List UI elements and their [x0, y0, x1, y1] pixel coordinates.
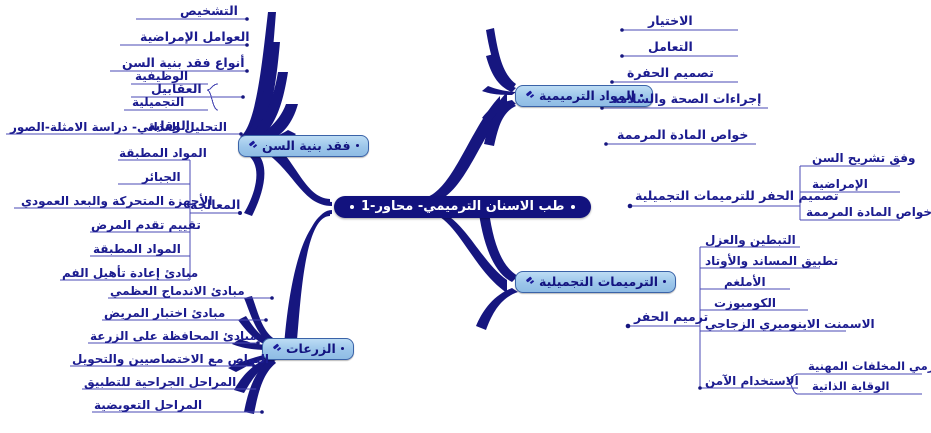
leaf-surgical-stages[interactable]: المراحل الجراحية للتطبيق: [84, 376, 236, 388]
pencil-icon: [525, 277, 534, 286]
leaf-specialist-communication-referral[interactable]: التواص مع الاختصاصيين والتحويل: [72, 353, 269, 365]
branch-node-cosmetic-restorations[interactable]: الترميمات التجميلية: [515, 271, 676, 293]
leaf-sequelae[interactable]: العقابيل: [151, 83, 202, 96]
leaf-diagnosis[interactable]: التشخيص: [180, 5, 238, 18]
leaf-cosmetic-cavity-design[interactable]: تصميم الحفر للترميمات التجميلية: [635, 190, 839, 203]
leaf-oral-rehabilitation-principles[interactable]: مبادئ إعادة تأهيل الفم: [62, 267, 198, 279]
branch-label: الترميمات التجميلية: [539, 274, 658, 289]
branch-label: فقد بنية السن: [262, 138, 351, 153]
leaf-pathogenic-factors[interactable]: العوامل الإمراضية: [140, 31, 250, 44]
leaf-cavity-restoration[interactable]: ترميم الحفر: [634, 311, 708, 324]
leaf-splints[interactable]: الجبائر: [142, 171, 181, 183]
leaf-health-safety-procedures[interactable]: إجراءات الصحة والسلامة: [612, 93, 761, 106]
branch-label: الزرعات: [286, 341, 336, 356]
leaf-cavity-design[interactable]: تصميم الحفرة: [627, 67, 714, 80]
node-connector-dot: [356, 144, 359, 147]
leaf-lining-isolation[interactable]: التبطين والعزل: [705, 234, 796, 246]
pencil-icon: [248, 141, 257, 150]
leaf-amalgam[interactable]: الأملغم: [724, 276, 766, 288]
leaf-patient-selection-principles[interactable]: مبادئ اختبار المريض: [104, 307, 225, 319]
root-bullet-icon-end: [350, 205, 354, 209]
leaf-types-of-tooth-structure-loss[interactable]: أنواع فقد بنية السن: [122, 57, 245, 70]
leaf-selection[interactable]: الاختيار: [648, 15, 693, 28]
leaf-applied-materials-2[interactable]: المواد المطبقة: [93, 243, 181, 255]
root-label: طب الاسنان الترميمي- محاور-1: [361, 199, 564, 214]
leaf-self-protection[interactable]: الوقاية الذاتية: [812, 381, 889, 393]
node-connector-dot: [663, 280, 666, 283]
root-bullet-icon: [571, 205, 575, 209]
pencil-icon: [272, 344, 281, 353]
leaf-composite[interactable]: الكومبوزت: [714, 297, 776, 309]
branch-node-implants[interactable]: الزرعات: [262, 338, 354, 360]
leaf-dietary-analysis[interactable]: التحليل الغذائي- دراسة الامثلة-الصور: [10, 121, 227, 133]
root-node[interactable]: طب الاسنان الترميمي- محاور-1: [334, 196, 591, 218]
leaf-glass-ionomer-cement[interactable]: الاسمنت الاينوميري الزجاجي: [705, 318, 875, 330]
mind-map-canvas: طب الاسنان الترميمي- محاور-1 المواد التر…: [0, 0, 931, 433]
leaf-handling[interactable]: التعامل: [648, 41, 693, 54]
leaf-applied-materials[interactable]: المواد المطبقة: [119, 147, 207, 159]
leaf-safe-use[interactable]: الاستخدام الآمن: [705, 375, 799, 387]
leaf-functional[interactable]: الوظيفية: [135, 70, 188, 82]
leaf-removable-appliances-vertical-dimension[interactable]: الأجهزة المتحركة والبعد العمودي: [21, 195, 212, 207]
leaf-pathological[interactable]: الإمراضية: [812, 178, 868, 190]
node-connector-dot: [341, 347, 344, 350]
pencil-icon: [525, 91, 534, 100]
leaf-implant-maintenance-principles[interactable]: مبادئ المحافظة على الزرعة: [90, 330, 257, 342]
leaf-restorative-material-properties[interactable]: خواص المادة المرممة: [617, 129, 748, 142]
leaf-disease-progress-evaluation[interactable]: تقييم تقدم المرض: [91, 219, 201, 231]
leaf-per-tooth-anatomy[interactable]: وفق تشريح السن: [812, 152, 915, 164]
leaf-cosmetic[interactable]: التجميلية: [132, 96, 184, 108]
leaf-osseointegration-principles[interactable]: مبادئ الاندماج العظمي: [110, 285, 245, 297]
leaf-professional-waste-disposal[interactable]: رمي المخلفات المهنية: [808, 361, 931, 373]
leaf-restorative-material-properties-2[interactable]: خواص المادة المرممة: [806, 206, 931, 218]
branch-node-tooth-structure-loss[interactable]: فقد بنية السن: [238, 135, 369, 157]
leaf-prosthetic-stages[interactable]: المراحل التعويضية: [94, 399, 202, 411]
leaf-matrices-wedges[interactable]: تطبيق المساند والأوتاد: [705, 255, 838, 267]
